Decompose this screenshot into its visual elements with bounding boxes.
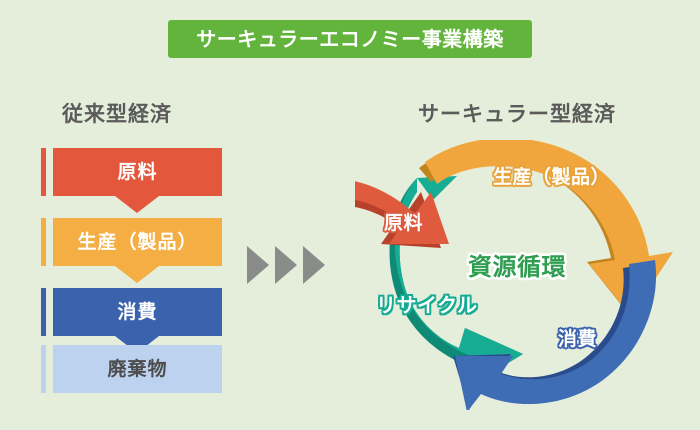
cycle-label-material: 原料 [384,214,423,233]
cycle-label-consumption: 消費 [558,330,597,349]
flow-step-waste: 廃棄物 [41,345,222,393]
flow-arrow-down-icon [115,266,159,283]
flow-step-production: 生産（製品） [41,218,222,266]
flow-step-label: 生産（製品） [77,233,197,252]
consumption-arrow-icon [453,260,656,410]
flow-step-consumption: 消費 [41,288,222,336]
chevron-right-icon [303,246,325,284]
flow-step-accent-tab [41,345,46,393]
flow-step-accent-tab [41,148,46,196]
flow-step-bar: 消費 [53,288,222,336]
flow-step-bar: 生産（製品） [53,218,222,266]
cycle-center-label: 資源循環 [468,255,566,279]
flow-step-bar: 原料 [53,148,222,196]
flow-step-accent-tab [41,288,46,336]
flow-step-label: 廃棄物 [107,360,167,379]
page-title: サーキュラーエコノミー事業構築 [196,29,504,49]
flow-step-bar: 廃棄物 [53,345,222,393]
cycle-label-recycle: リサイクル [376,295,478,315]
circular-economy-heading: サーキュラー型経済 [418,98,616,128]
linear-economy-flow: 原料 生産（製品） 消費 廃棄物 [0,0,240,430]
chevron-right-icon [247,246,269,284]
flow-arrow-down-icon [115,196,159,213]
flow-step-label: 消費 [117,303,157,322]
chevron-right-icon [275,246,297,284]
cycle-label-production: 生産（製品） [493,168,610,187]
flow-step-material: 原料 [41,148,222,196]
flow-step-label: 原料 [117,163,157,182]
flow-step-accent-tab [41,218,46,266]
transition-chevrons [247,246,325,284]
diagram-canvas: サーキュラーエコノミー事業構築 従来型経済 サーキュラー型経済 原料 生産（製品… [0,0,700,430]
circular-economy-diagram: 生産（製品） 消費 リサイクル 原料 資源循環 [355,140,685,410]
